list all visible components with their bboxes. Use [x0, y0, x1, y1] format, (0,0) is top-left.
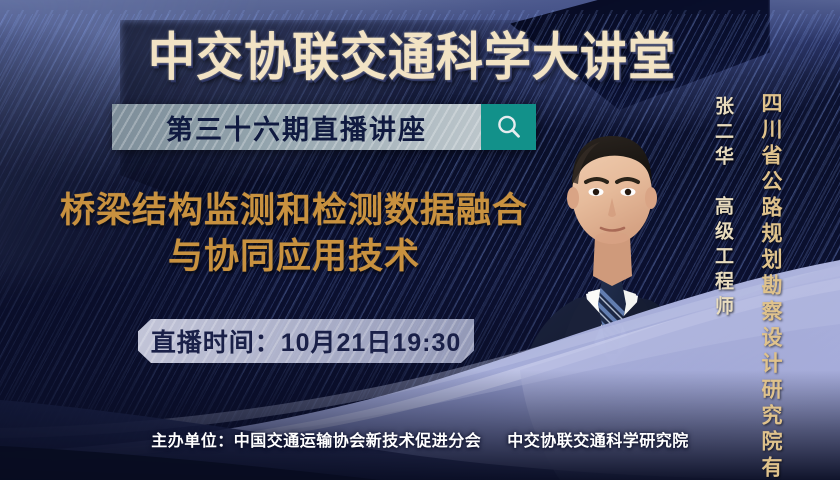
search-icon — [494, 112, 524, 142]
search-button[interactable] — [481, 104, 536, 150]
footer-organizer-2: 中交协联交通科学研究院 — [507, 427, 689, 451]
footer-prefix: 主办单位： — [151, 427, 234, 451]
episode-label: 第三十六期直播讲座 — [166, 108, 427, 147]
footer-organizer-1: 中国交通运输协会新技术促进分会 — [234, 427, 482, 451]
live-lecture-poster: 中交协联交通科学大讲堂 第三十六期直播讲座 桥梁结构监测和检测数据融合 与协同应… — [0, 0, 840, 480]
speaker-organization: 四川省公路规划勘察设计研究院有限公司 — [755, 92, 785, 480]
footer-organizers: 主办单位： 中国交通运输协会新技术促进分会 中交协联交通科学研究院 — [0, 427, 840, 451]
episode-banner-fill: 第三十六期直播讲座 — [112, 104, 481, 150]
lecture-topic-title: 桥梁结构监测和检测数据融合 与协同应用技术 — [34, 188, 554, 280]
broadcast-time-label: 直播时间：10月21日19:30 — [151, 323, 462, 359]
speaker-name-and-title: 张二华 高级工程师 — [709, 96, 736, 321]
episode-banner: 第三十六期直播讲座 — [112, 104, 536, 150]
broadcast-time-badge: 直播时间：10月21日19:30 — [138, 319, 474, 363]
lecture-topic-line-1: 桥梁结构监测和检测数据融合 — [60, 191, 528, 230]
page-title: 中交协联交通科学大讲堂 — [112, 18, 712, 86]
lecture-topic-line-2: 与协同应用技术 — [34, 234, 554, 280]
